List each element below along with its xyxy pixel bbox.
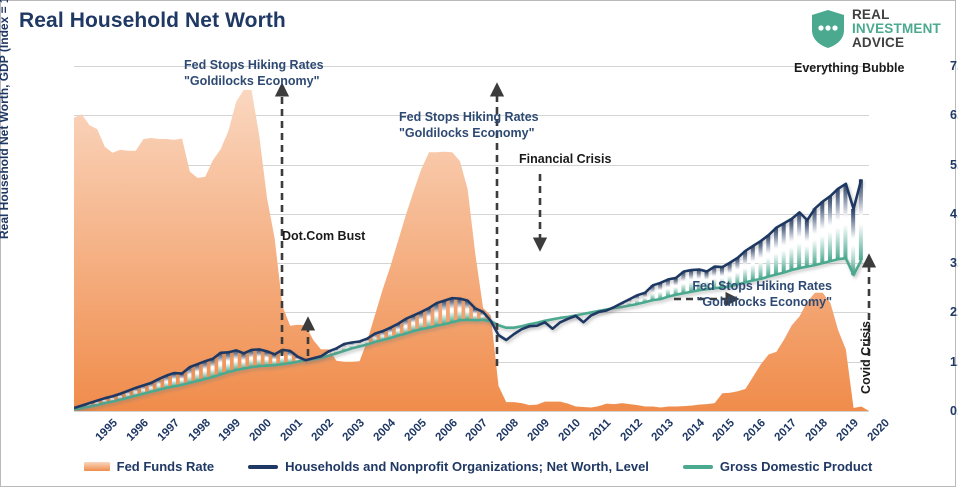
legend-label: Fed Funds Rate [117,459,215,474]
x-axis-tick: 1996 [124,417,151,444]
x-axis-tick: 2009 [526,417,553,444]
annotation-line: Covid Crisis [859,321,875,394]
x-axis-tick: 2016 [742,417,769,444]
logo-line-2: INVESTMENT [852,22,941,36]
x-axis-tick: 2015 [711,417,738,444]
y-axis-right-tick: 2.0 [950,305,958,319]
x-axis-tick: 2019 [834,417,861,444]
page-title: Real Household Net Worth [19,9,286,33]
annotation-line: Fed Stops Hiking Rates [399,110,539,126]
plot-area: 100.0150.0200.0250.0300.0350.0400.0450.0… [74,66,869,411]
legend-label: Gross Domestic Product [720,459,872,474]
x-axis-tick: 2000 [248,417,275,444]
annotation-line: Financial Crisis [519,152,611,168]
annotation-dotcom-bust: Dot.Com Bust [282,229,365,245]
x-axis-tick: 2008 [495,417,522,444]
chart-card: Real Household Net Worth REAL INVESTMENT… [0,0,956,487]
logo-line-1: REAL [852,8,941,22]
annotation-line: Fed Stops Hiking Rates [184,58,324,74]
annotation-line: Dot.Com Bust [282,229,365,245]
x-axis-tick: 2007 [464,417,491,444]
x-axis-tick: 2014 [680,417,707,444]
x-axis-tick: 2012 [618,417,645,444]
x-axis-tick: 1997 [155,417,182,444]
annotation-covid-crisis: Covid Crisis [859,321,875,394]
x-axis-tick: 2013 [649,417,676,444]
y-axis-right-tick: 0.0 [950,404,958,418]
x-axis-tick: 1995 [93,417,120,444]
chart-legend: Fed Funds Rate Households and Nonprofit … [1,459,955,474]
y-axis-right-tick: 3.0 [950,256,958,270]
x-axis-tick: 2002 [310,417,337,444]
x-axis-tick: 2017 [773,417,800,444]
y-axis-right-tick: 7.0 [950,59,958,73]
shield-dots-icon [811,9,845,49]
annotation-line: Fed Stops Hiking Rates [682,279,832,295]
annotation-line: Everything Bubble [794,61,944,77]
gridline [74,411,869,412]
x-axis-tick: 2001 [279,417,306,444]
annotation-fed-stops-2: Fed Stops Hiking Rates"Goldilocks Econom… [399,110,539,141]
legend-label: Households and Nonprofit Organizations; … [285,459,649,474]
line-swatch-icon [248,465,278,469]
x-axis-tick: 2003 [340,417,367,444]
brand-logo: REAL INVESTMENT ADVICE [811,8,941,49]
area-swatch-icon [84,462,110,471]
y-axis-right-tick: 4.0 [950,207,958,221]
x-axis-tick: 2010 [557,417,584,444]
annotation-line: "Goldilocks Economy" [399,126,539,142]
x-axis-tick: 2005 [402,417,429,444]
logo-line-3: ADVICE [852,36,941,50]
x-axis-tick: 2006 [433,417,460,444]
legend-item-fed-funds-rate[interactable]: Fed Funds Rate [84,459,215,474]
annotation-fed-stops-3: Fed Stops Hiking Rates"Goldilocks Econom… [682,279,832,310]
x-axis-tick: 2011 [587,417,613,443]
annotation-fed-stops-1: Fed Stops Hiking Rates"Goldilocks Econom… [184,58,324,89]
annotation-line: "Goldilocks Economy" [682,295,832,311]
line-swatch-icon [683,465,713,469]
annotation-line: "Goldilocks Economy" [184,74,324,90]
y-axis-right-tick: 1.0 [950,355,958,369]
legend-item-gdp[interactable]: Gross Domestic Product [683,459,872,474]
legend-item-net-worth[interactable]: Households and Nonprofit Organizations; … [248,459,649,474]
y-axis-left-label: Real Household Net Worth, GDP (Index = 1… [0,0,11,239]
x-axis-tick: 1999 [217,417,244,444]
brand-logo-text: REAL INVESTMENT ADVICE [852,8,941,49]
annotation-financial-crisis: Financial Crisis [519,152,611,168]
x-axis-tick: 1998 [186,417,213,444]
x-axis-ticks: 1995199619971998199920002001200220032004… [74,415,869,459]
x-axis-tick: 2004 [371,417,398,444]
x-axis-tick: 2020 [865,417,892,444]
x-axis-tick: 2018 [804,417,831,444]
y-axis-right-tick: 5.0 [950,158,958,172]
y-axis-right-tick: 6.0 [950,108,958,122]
annotation-everything-bubble: Everything Bubble [794,61,944,77]
